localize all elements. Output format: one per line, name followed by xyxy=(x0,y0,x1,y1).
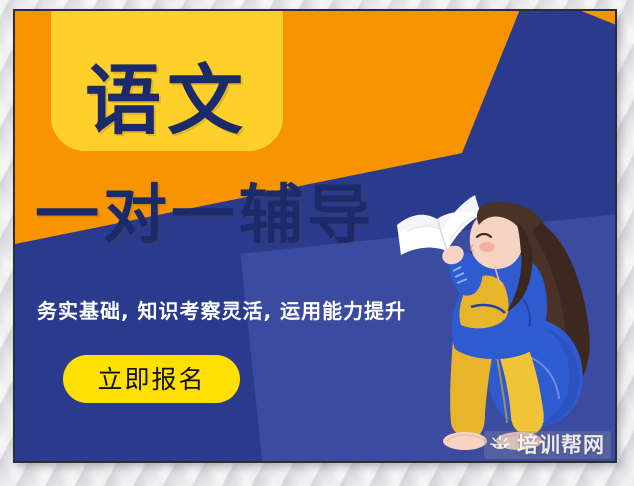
watermark: 培训帮网 xyxy=(484,431,611,459)
illustration-woman-reading xyxy=(391,171,617,461)
signup-now-label: 立即报名 xyxy=(97,367,205,392)
subtitle: 务实基础, 知识考察灵活, 运用能力提升 xyxy=(37,295,406,324)
headline: 一对一辅导 xyxy=(35,183,375,250)
watermark-label: 培训帮网 xyxy=(517,435,605,456)
sun-face-icon xyxy=(489,434,511,456)
promo-banner: 语文 一对一辅导 务实基础, 知识考察灵活, 运用能力提升 立即报名 xyxy=(13,9,617,463)
page-backdrop: 语文 一对一辅导 务实基础, 知识考察灵活, 运用能力提升 立即报名 xyxy=(0,0,634,486)
signup-now-button[interactable]: 立即报名 xyxy=(63,355,240,403)
subject-badge-label: 语文 xyxy=(85,63,249,139)
subject-badge: 语文 xyxy=(51,9,283,151)
